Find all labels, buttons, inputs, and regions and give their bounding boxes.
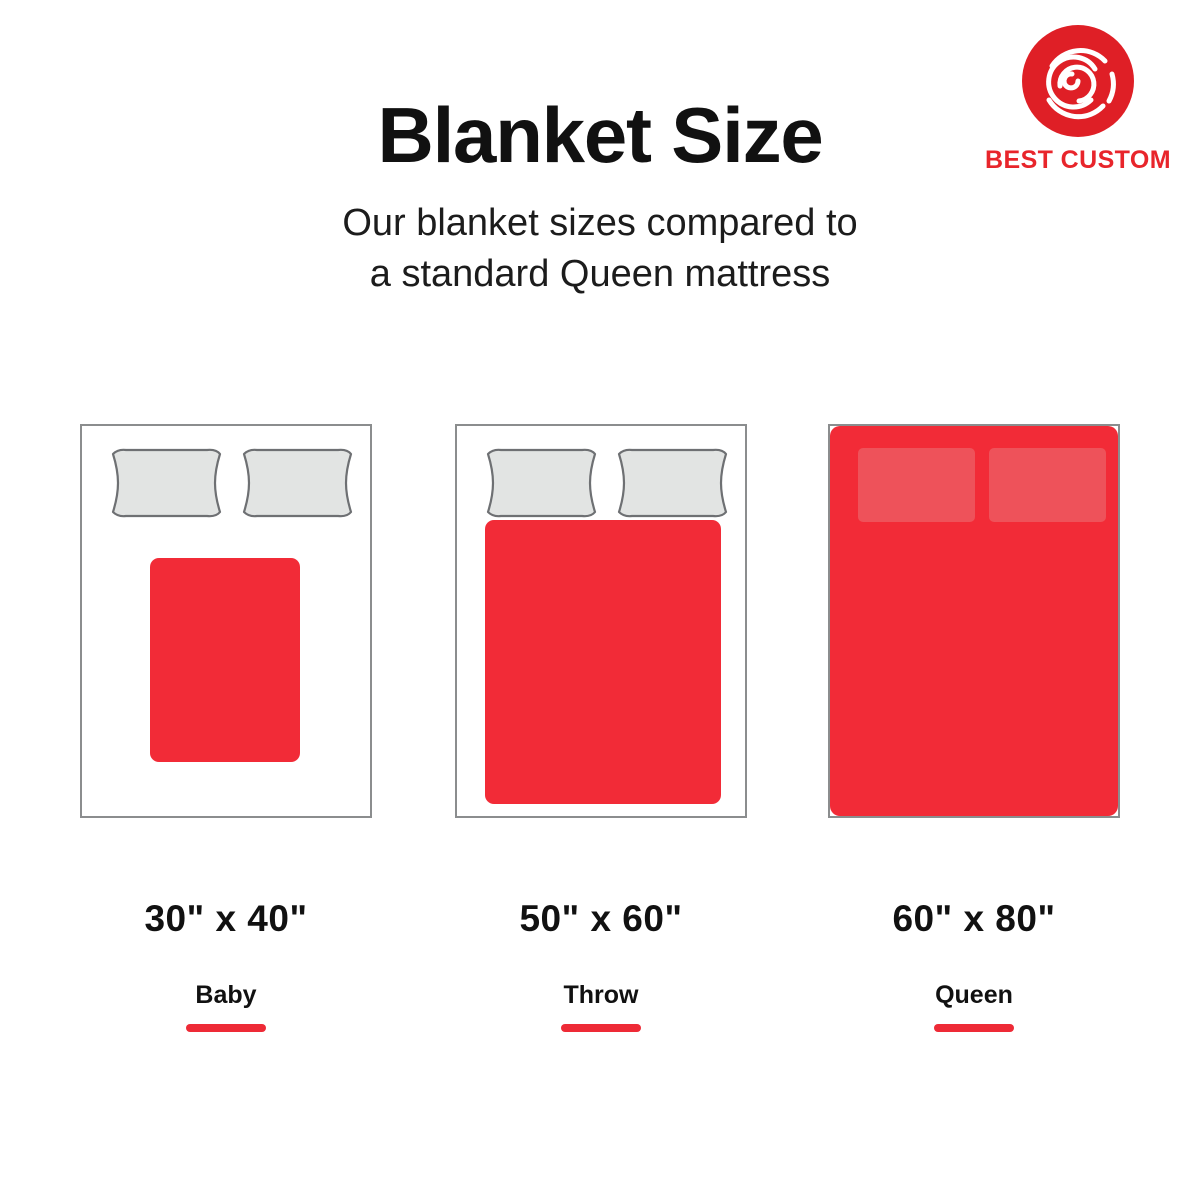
size-label-baby: 30" x 40" Baby xyxy=(80,900,372,1032)
dimension-text: 30" x 40" xyxy=(80,900,372,937)
dimension-text: 50" x 60" xyxy=(455,900,747,937)
page-title: Blanket Size xyxy=(0,96,1200,174)
size-labels: 30" x 40" Baby 50" x 60" Throw 60" x 80"… xyxy=(0,900,1200,1040)
pillow-left xyxy=(483,446,600,520)
size-label-queen: 60" x 80" Queen xyxy=(828,900,1120,1032)
accent-underline xyxy=(561,1024,641,1032)
pillow-right-covered xyxy=(989,448,1106,522)
pillow-right xyxy=(239,446,356,520)
bed-diagram-throw xyxy=(455,424,747,818)
pillow-left xyxy=(108,446,225,520)
header: Blanket Size Our blanket sizes compared … xyxy=(0,96,1200,301)
bed-diagram-baby xyxy=(80,424,372,818)
dimension-text: 60" x 80" xyxy=(828,900,1120,937)
subtitle: Our blanket sizes compared to a standard… xyxy=(220,198,980,301)
size-label-throw: 50" x 60" Throw xyxy=(455,900,747,1032)
blanket-swatch-queen xyxy=(830,426,1118,816)
subtitle-line-1: Our blanket sizes compared to xyxy=(220,198,980,249)
bed-diagram-queen xyxy=(828,424,1120,818)
subtitle-line-2: a standard Queen mattress xyxy=(220,249,980,300)
blanket-swatch-throw xyxy=(485,520,721,804)
pillow-right xyxy=(614,446,731,520)
blanket-swatch-baby xyxy=(150,558,300,762)
size-name: Throw xyxy=(455,983,747,1008)
size-name: Baby xyxy=(80,983,372,1008)
size-name: Queen xyxy=(828,983,1120,1008)
accent-underline xyxy=(186,1024,266,1032)
accent-underline xyxy=(934,1024,1014,1032)
bed-comparison-diagrams xyxy=(0,424,1200,824)
pillow-left-covered xyxy=(858,448,975,522)
